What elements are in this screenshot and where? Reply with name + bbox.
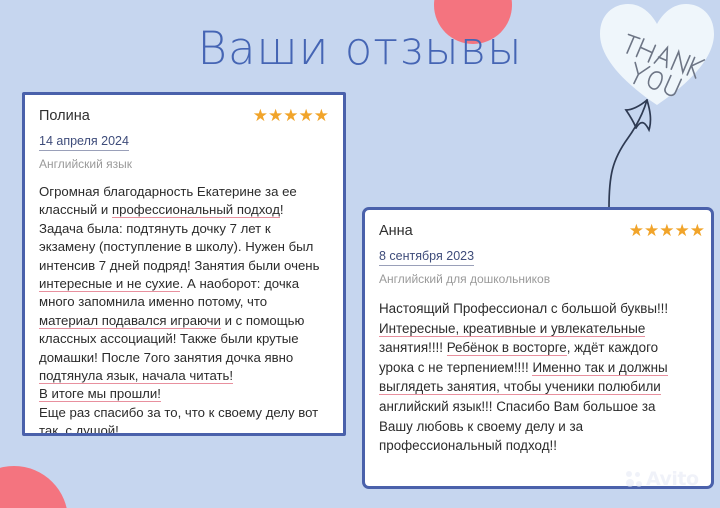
plain-text: и с помощью <box>221 313 304 328</box>
highlighted-text: Интересные, креативные и увлекательные <box>379 321 645 337</box>
plain-text: классных ассоциаций! Также были крутые <box>39 331 299 346</box>
review-date: 14 апреля 2024 <box>39 134 129 151</box>
highlighted-text: В итоге мы прошли! <box>39 386 161 402</box>
highlighted-text: Именно так и должны <box>532 360 667 376</box>
review-body-line: классный и профессиональный подход! <box>39 201 329 219</box>
highlighted-text: выглядеть занятия, чтобы ученики полюбил… <box>379 379 661 395</box>
plain-text: ! <box>280 202 284 217</box>
review-subject: Английский для дошкольников <box>379 272 697 287</box>
review-body-line: интенсив 7 дней подряд! Занятия были оче… <box>39 257 329 275</box>
review-body-line: профессиональный подход!! <box>379 436 697 456</box>
plain-text: Огромная благодарность Екатерине за ее <box>39 184 297 199</box>
review-body-line: подтянула язык, начала читать! <box>39 367 329 385</box>
plain-text: домашки! После 7ого занятия дочка явно <box>39 350 293 365</box>
review-body-line: интересные и не сухие. А наоборот: дочка <box>39 275 329 293</box>
review-body-line: экзамену (поступление в школу). Нужен бы… <box>39 238 329 256</box>
review-header: Анна ★★★★★ <box>379 222 697 244</box>
review-date: 8 сентября 2023 <box>379 249 474 266</box>
plain-text: экзамену (поступление в школу). Нужен бы… <box>39 239 313 254</box>
plain-text: английский язык!!! Спасибо Вам большое з… <box>379 399 655 414</box>
review-body-line: занятия!!!! Ребёнок в восторге, ждёт каж… <box>379 338 697 358</box>
plain-text: профессиональный подход!! <box>379 438 557 453</box>
highlighted-text: Ребёнок в восторге <box>447 340 567 356</box>
review-body-line: Огромная благодарность Екатерине за ее <box>39 183 329 201</box>
review-body-line: Настоящий Профессионал с большой буквы!!… <box>379 299 697 319</box>
plain-text: так, с душой! <box>39 423 119 436</box>
review-body: Огромная благодарность Екатерине за еекл… <box>39 183 329 436</box>
highlighted-text: материал подавался играючи <box>39 313 221 329</box>
highlighted-text: интересные и не сухие <box>39 276 180 292</box>
review-body-line: так, с душой! <box>39 422 329 436</box>
plain-text: Вашу любовь к своему делу и за <box>379 419 583 434</box>
avito-watermark: Avito <box>626 468 699 490</box>
page-title: Ваши отзывы <box>0 22 720 75</box>
review-body-line: Задача была: подтянуть дочку 7 лет к <box>39 220 329 238</box>
plain-text: Еще раз спасибо за то, что к своему делу… <box>39 405 318 420</box>
review-body-line: много запомнила именно потому, что <box>39 293 329 311</box>
review-body-line: Вашу любовь к своему делу и за <box>379 417 697 437</box>
review-date-row: 14 апреля 2024 <box>39 129 329 151</box>
plain-text: классный и <box>39 202 112 217</box>
plain-text: . А наоборот: дочка <box>180 276 299 291</box>
review-body-line: Интересные, креативные и увлекательные <box>379 319 697 339</box>
plain-text: Задача была: подтянуть дочку 7 лет к <box>39 221 271 236</box>
review-body-line: домашки! После 7ого занятия дочка явно <box>39 349 329 367</box>
review-body-line: английский язык!!! Спасибо Вам большое з… <box>379 397 697 417</box>
review-body-line: урока с не терпением!!!! Именно так и до… <box>379 358 697 378</box>
review-body-line: В итоге мы прошли! <box>39 385 329 403</box>
poster-canvas: Ваши отзывы Полина ★★★★★ 14 апреля 2024 … <box>0 0 720 508</box>
review-body-line: материал подавался играючи и с помощью <box>39 312 329 330</box>
review-body-line: выглядеть занятия, чтобы ученики полюбил… <box>379 377 697 397</box>
review-body-line: классных ассоциаций! Также были крутые <box>39 330 329 348</box>
review-header: Полина ★★★★★ <box>39 107 329 129</box>
plain-text: , ждёт каждого <box>567 340 658 355</box>
highlighted-text: профессиональный подход <box>112 202 280 218</box>
curved-arrow-icon <box>576 60 716 210</box>
avito-watermark-label: Avito <box>646 468 699 490</box>
plain-text: много запомнила именно потому, что <box>39 294 267 309</box>
review-card-anna[interactable]: Анна ★★★★★ 8 сентября 2023 Английский дл… <box>362 207 714 489</box>
review-date-row: 8 сентября 2023 <box>379 244 697 266</box>
review-subject: Английский язык <box>39 157 329 172</box>
star-rating-icon: ★★★★★ <box>253 106 329 126</box>
review-card-polina[interactable]: Полина ★★★★★ 14 апреля 2024 Английский я… <box>22 92 346 436</box>
review-body: Настоящий Профессионал с большой буквы!!… <box>379 299 697 456</box>
highlighted-text: подтянула язык, начала читать! <box>39 368 233 384</box>
pink-circle-bottom-left-icon <box>0 466 68 508</box>
plain-text: интенсив 7 дней подряд! Занятия были оче… <box>39 258 319 273</box>
review-body-line: Еще раз спасибо за то, что к своему делу… <box>39 404 329 422</box>
plain-text: занятия!!!! <box>379 340 447 355</box>
plain-text: урока с не терпением!!!! <box>379 360 532 375</box>
avito-dots-icon <box>626 471 643 488</box>
star-rating-icon: ★★★★★ <box>629 221 705 241</box>
plain-text: Настоящий Профессионал с большой буквы!!… <box>379 301 668 316</box>
